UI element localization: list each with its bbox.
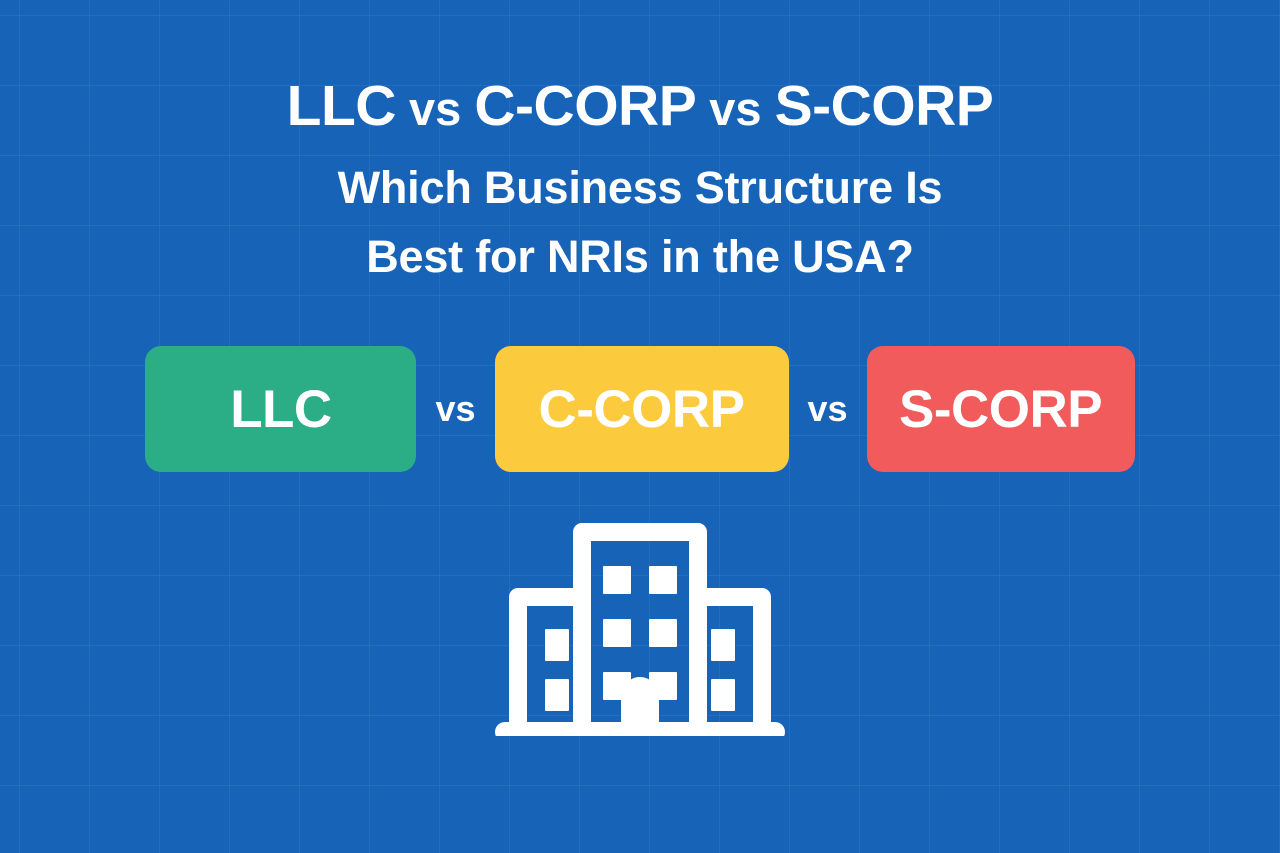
office-building-icon xyxy=(490,506,790,736)
title-part-ccorp: C-CORP xyxy=(474,74,696,138)
page-subtitle: Which Business Structure Is Best for NRI… xyxy=(0,153,1280,291)
badge-separator-1: vs xyxy=(416,391,494,427)
poster-canvas: LLC vs C-CORP vs S-CORP Which Business S… xyxy=(0,0,1280,853)
badge-c-corp-label: C-CORP xyxy=(538,383,744,436)
icon-container xyxy=(490,506,790,736)
badge-s-corp[interactable]: S-CORP xyxy=(867,346,1135,472)
title-vs-1: vs xyxy=(396,82,474,135)
badge-s-corp-label: S-CORP xyxy=(899,383,1102,436)
subtitle-line-2: Best for NRIs in the USA? xyxy=(0,222,1280,291)
page-title: LLC vs C-CORP vs S-CORP xyxy=(0,74,1280,141)
subtitle-line-1: Which Business Structure Is xyxy=(0,153,1280,222)
entity-badge-row: LLC vs C-CORP vs S-CORP xyxy=(145,346,1134,472)
badge-llc-label: LLC xyxy=(230,383,332,436)
headline-block: LLC vs C-CORP vs S-CORP Which Business S… xyxy=(0,74,1280,291)
title-part-llc: LLC xyxy=(287,74,396,138)
badge-llc[interactable]: LLC xyxy=(145,346,416,472)
badge-separator-2: vs xyxy=(789,391,867,427)
title-vs-2: vs xyxy=(696,82,774,135)
badge-c-corp[interactable]: C-CORP xyxy=(495,346,789,472)
title-part-scorp: S-CORP xyxy=(775,74,994,138)
